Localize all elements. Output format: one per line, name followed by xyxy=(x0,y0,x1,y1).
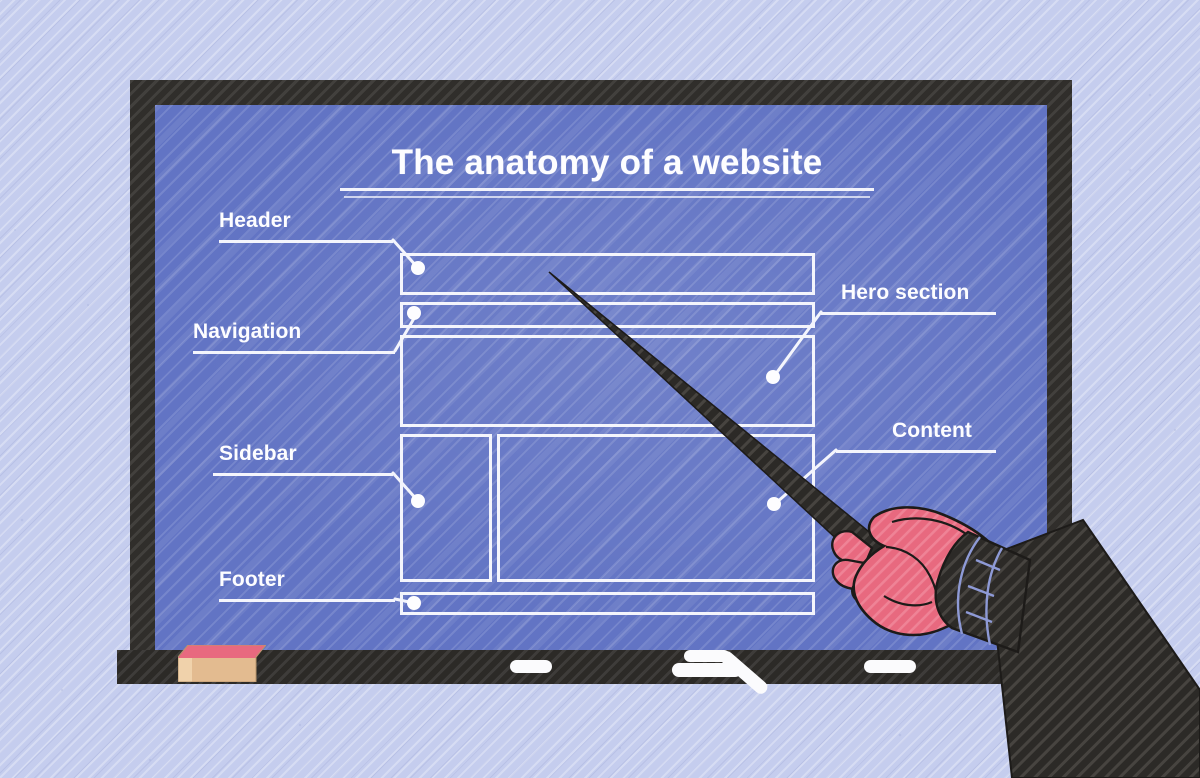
label-content: Content xyxy=(892,419,972,443)
label-navigation-rule xyxy=(193,351,395,354)
wireframe-hero-box[interactable] xyxy=(400,335,815,427)
label-sidebar: Sidebar xyxy=(219,442,297,466)
wireframe-header-box[interactable] xyxy=(400,253,815,295)
label-navigation: Navigation xyxy=(193,320,301,344)
label-sidebar-rule xyxy=(213,473,393,476)
illustration-scene: The anatomy of a website Header Navigati… xyxy=(0,0,1200,778)
label-footer: Footer xyxy=(219,568,285,592)
chalk-piece-left[interactable] xyxy=(510,660,552,673)
page-title: The anatomy of a website xyxy=(340,143,874,183)
label-footer-rule xyxy=(219,599,395,602)
eraser-outline xyxy=(178,645,266,682)
title-underline xyxy=(340,188,874,191)
eraser[interactable] xyxy=(178,645,266,682)
wireframe-sidebar-box[interactable] xyxy=(400,434,492,582)
label-hero-rule xyxy=(821,312,996,315)
wireframe-content-box[interactable] xyxy=(497,434,815,582)
label-content-rule xyxy=(836,450,996,453)
title-underline-secondary xyxy=(344,196,870,198)
chalk-piece-right[interactable] xyxy=(864,660,916,673)
wireframe-footer-box[interactable] xyxy=(400,592,815,615)
label-hero-section: Hero section xyxy=(841,281,969,305)
label-header-rule xyxy=(219,240,393,243)
label-header: Header xyxy=(219,209,291,233)
wireframe-navigation-box[interactable] xyxy=(400,302,815,328)
